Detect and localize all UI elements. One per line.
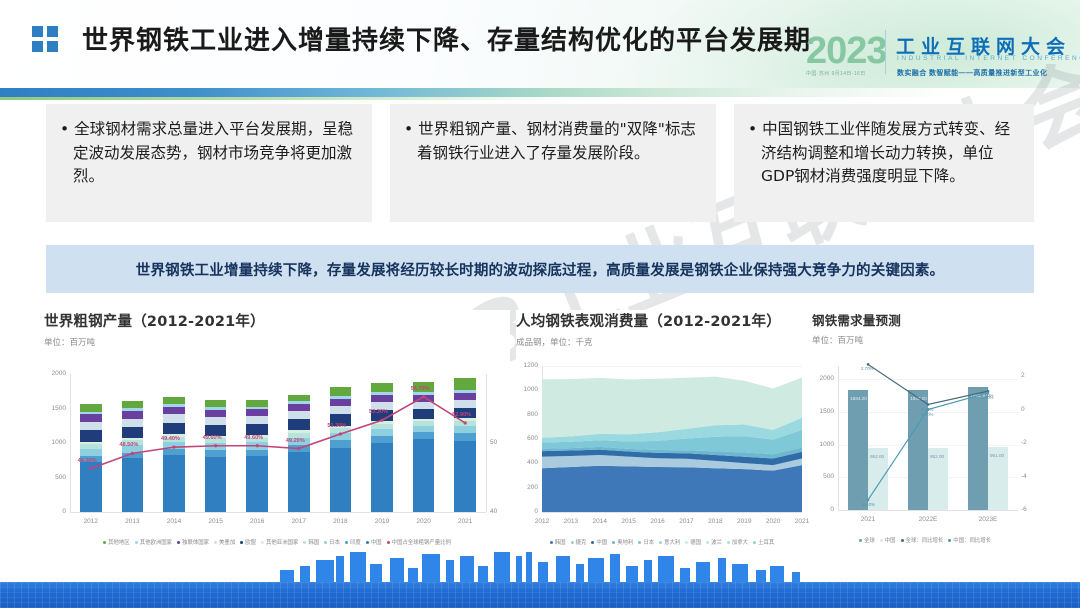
legend-swatch	[261, 541, 264, 544]
building-shape	[350, 552, 366, 586]
legend-item: 日本	[638, 538, 654, 546]
legend-swatch	[387, 541, 390, 544]
legend-item: 美墨加	[214, 538, 235, 546]
summary-box-text: 中国钢铁工业伴随发展方式转变、经济结构调整和增长动力转换，单位GDP钢材消费强度…	[748, 118, 1022, 189]
line-data-label: 49.20%	[286, 438, 305, 444]
legend-swatch	[103, 541, 106, 544]
legend-label: 全球	[864, 536, 875, 544]
legend-item: 中国	[880, 536, 896, 544]
legend-label: 奥地利	[617, 538, 633, 546]
chart-legend: 其他地区其他欧洲国家独联体国家美墨加欧盟其他亚洲国家韩国日本印度中国中国占全球粗…	[44, 538, 510, 546]
legend-label: 加拿大	[732, 538, 748, 546]
legend-label: 中国	[596, 538, 607, 546]
legend-swatch	[214, 541, 217, 544]
legend-swatch	[727, 541, 730, 544]
chart-panel-demand-forecast: 钢铁需求量预测 单位：百万吨 0500100015002000-6-4-2021…	[812, 310, 1038, 550]
legend-label: 中国：同比增长	[953, 536, 991, 544]
legend-item: 奥地利	[612, 538, 633, 546]
x-axis-tick: 2018	[704, 518, 726, 525]
legend-item: 德国	[685, 538, 701, 546]
x-axis-tick: 2014	[589, 518, 611, 525]
legend-swatch	[706, 541, 709, 544]
legend-label: 韩国	[555, 538, 566, 546]
line-data-label: 49.60%	[203, 435, 222, 441]
legend-label: 日本	[329, 538, 340, 546]
legend-swatch	[859, 539, 862, 542]
chart-legend: 全球中国全球：同比增长中国：同比增长	[812, 536, 1038, 544]
legend-swatch	[638, 541, 641, 544]
page-title: 世界钢铁工业进入增量持续下降、存量结构优化的平台发展期	[82, 20, 811, 57]
legend-swatch	[303, 541, 306, 544]
x-axis-tick: 2015	[618, 518, 640, 525]
legend-item: 欧盟	[240, 538, 256, 546]
legend-label: 韩国	[308, 538, 319, 546]
legend-item: 全球	[859, 536, 875, 544]
legend-swatch	[550, 541, 553, 544]
chart-panel-crude-steel-production: 世界粗钢产量（2012-2021年） 单位：百万吨 05001000150020…	[44, 310, 510, 550]
legend-label: 全球：同比增长	[906, 536, 944, 544]
legend-swatch	[366, 541, 369, 544]
chart-title: 人均钢铁表观消费量（2012-2021年）	[516, 310, 808, 331]
building-shape	[494, 552, 510, 586]
summary-boxes: 全球钢材需求总量进入平台发展期，呈稳定波动发展态势，钢材市场竞争将更加激烈。 世…	[0, 104, 1080, 222]
legend-swatch	[753, 541, 756, 544]
legend-item: 捷克	[571, 538, 587, 546]
line-data-label: 56.70%	[411, 386, 430, 392]
legend-label: 土耳其	[758, 538, 774, 546]
legend-item: 波兰	[706, 538, 722, 546]
legend-swatch	[612, 541, 615, 544]
legend-swatch	[901, 539, 904, 542]
legend-item: 土耳其	[753, 538, 774, 546]
summary-box: 世界粗钢产量、钢材消费量的"双降"标志着钢铁行业进入了存量发展阶段。	[390, 104, 716, 222]
x-axis-tick: 2017	[675, 518, 697, 525]
chart-plot-area: 0500100015002000-6-4-2021834.20952.00202…	[812, 354, 1038, 544]
legend-swatch	[880, 539, 883, 542]
legend-item: 韩国	[550, 538, 566, 546]
city-skyline-icon	[270, 550, 830, 586]
four-squares-logo-icon	[32, 26, 60, 54]
footer-wave-band	[0, 582, 1080, 608]
header-rule	[0, 88, 1080, 97]
summary-box: 中国钢铁工业伴随发展方式转变、经济结构调整和增长动力转换，单位GDP钢材消费强度…	[734, 104, 1034, 222]
legend-label: 中国占全球粗钢产量比例	[392, 538, 451, 546]
header-divider	[885, 30, 886, 74]
chart-panel-per-capita-consumption: 人均钢铁表观消费量（2012-2021年） 成品钢，单位：千克 02004006…	[516, 310, 808, 550]
legend-label: 欧盟	[245, 538, 256, 546]
summary-box-text: 世界粗钢产量、钢材消费量的"双降"标志着钢铁行业进入了存量发展阶段。	[404, 118, 704, 165]
legend-label: 美墨加	[219, 538, 235, 546]
legend-swatch	[571, 541, 574, 544]
x-axis-tick: 2013	[560, 518, 582, 525]
page-header: 世界钢铁工业进入增量持续下降、存量结构优化的平台发展期 2023 中国·苏州 9…	[0, 0, 1080, 88]
legend-swatch	[685, 541, 688, 544]
legend-item: 其他欧洲国家	[135, 538, 172, 546]
chart-plot-area: 0500100015002000405020122013201420152016…	[44, 356, 510, 546]
summary-box-text: 全球钢材需求总量进入平台发展期，呈稳定波动发展态势，钢材市场竞争将更加激烈。	[60, 118, 360, 189]
legend-label: 其他亚洲国家	[266, 538, 298, 546]
line-data-label: 49.60%	[244, 435, 263, 441]
key-message-text: 世界钢铁工业增量持续下降，存量发展将经历较长时期的波动探底过程，高质量发展是钢铁…	[136, 259, 945, 280]
legend-item: 意大利	[659, 538, 680, 546]
legend-label: 波兰	[711, 538, 722, 546]
x-axis-tick: 2020	[762, 518, 784, 525]
legend-item: 独联体国家	[177, 538, 209, 546]
key-message-banner: 世界钢铁工业增量持续下降，存量发展将经历较长时期的波动探底过程，高质量发展是钢铁…	[46, 245, 1034, 293]
x-axis-tick: 2019	[733, 518, 755, 525]
conference-date: 中国·苏州 9月14日-16日	[806, 70, 866, 77]
chart-title: 世界粗钢产量（2012-2021年）	[44, 310, 510, 331]
chart-subtitle: 单位：百万吨	[812, 334, 1038, 346]
legend-swatch	[177, 541, 180, 544]
legend-label: 捷克	[576, 538, 587, 546]
legend-item: 其他亚洲国家	[261, 538, 298, 546]
legend-label: 德国	[690, 538, 701, 546]
legend-item: 中国	[591, 538, 607, 546]
chart-subtitle: 成品钢，单位：千克	[516, 336, 808, 348]
chart-plot-area: 0200400600800100012002012201320142015201…	[516, 356, 808, 546]
legend-label: 其他欧洲国家	[140, 538, 172, 546]
legend-item: 其他地区	[103, 538, 130, 546]
legend-item: 日本	[324, 538, 340, 546]
header-rule-accent	[0, 97, 560, 100]
legend-swatch	[659, 541, 662, 544]
line-data-label: 46.30%	[78, 458, 97, 464]
legend-label: 印度	[350, 538, 361, 546]
legend-label: 独联体国家	[182, 538, 209, 546]
conference-slogan: 数实融合 数智赋能——高质量推进新型工业化	[897, 68, 1047, 78]
legend-item: 中国占全球粗钢产量比例	[387, 538, 451, 546]
x-axis-tick: 2012	[531, 518, 553, 525]
legend-label: 其他地区	[108, 538, 130, 546]
legend-swatch	[948, 539, 951, 542]
legend-item: 加拿大	[727, 538, 748, 546]
legend-item: 中国	[366, 538, 382, 546]
growth-lines	[812, 354, 1038, 544]
chart-title: 钢铁需求量预测	[812, 310, 1038, 329]
legend-label: 意大利	[664, 538, 680, 546]
line-data-label: 49.40%	[161, 436, 180, 442]
legend-label: 日本	[643, 538, 654, 546]
legend-label: 中国	[885, 536, 896, 544]
building-shape	[526, 552, 532, 586]
page-footer	[0, 550, 1080, 608]
chart-subtitle: 单位：百万吨	[44, 336, 510, 348]
legend-swatch	[324, 541, 327, 544]
conference-name-en: INDUSTRIAL INTERNET CONFERENCE	[897, 55, 1080, 62]
legend-label: 中国	[371, 538, 382, 546]
legend-swatch	[240, 541, 243, 544]
legend-item: 印度	[345, 538, 361, 546]
legend-item: 韩国	[303, 538, 319, 546]
line-data-label: 53.30%	[369, 409, 388, 415]
line-data-label: 51.30%	[327, 423, 346, 429]
x-axis-tick: 2021	[791, 518, 813, 525]
line-data-label: 48.50%	[119, 442, 138, 448]
legend-swatch	[345, 541, 348, 544]
conference-year: 2023	[806, 30, 887, 73]
chart-legend: 韩国捷克中国奥地利日本意大利德国波兰加拿大土耳其	[516, 538, 808, 546]
legend-item: 中国：同比增长	[948, 536, 991, 544]
legend-item: 全球：同比增长	[901, 536, 944, 544]
line-data-label: 52.90%	[452, 412, 471, 418]
ratio-line	[44, 356, 510, 546]
x-axis-tick: 2016	[647, 518, 669, 525]
legend-swatch	[591, 541, 594, 544]
legend-swatch	[135, 541, 138, 544]
summary-box: 全球钢材需求总量进入平台发展期，呈稳定波动发展态势，钢材市场竞争将更加激烈。	[46, 104, 372, 222]
